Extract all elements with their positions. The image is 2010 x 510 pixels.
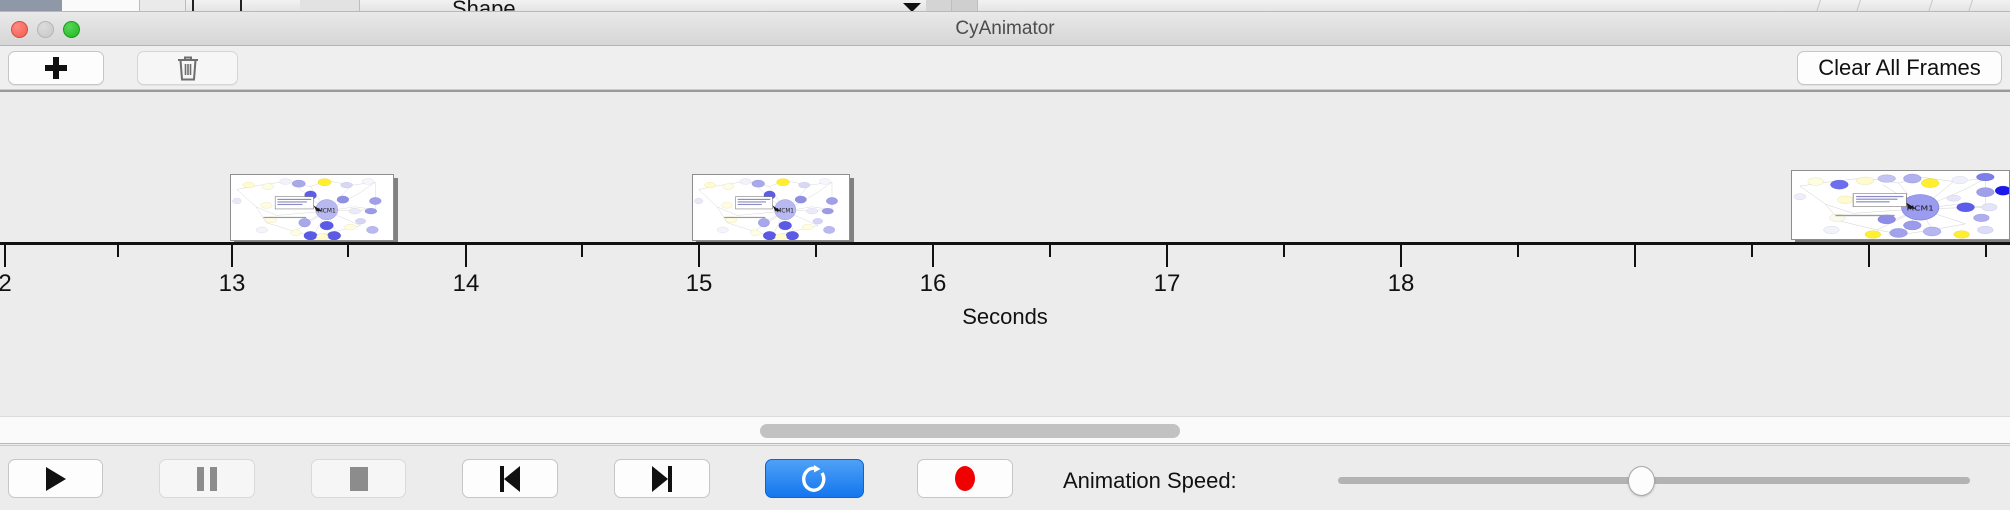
timeline-frame[interactable]: MCM1 [692,174,850,241]
axis-title: Seconds [0,304,2010,330]
window-title: CyAnimator [0,12,2010,46]
axis-tick [1868,245,1870,267]
bg-tick [192,0,194,12]
stop-icon [350,467,368,491]
skip-back-icon [500,466,520,492]
axis-tick [1283,245,1285,257]
axis-tick-label: 15 [686,270,713,298]
frames-area[interactable]: MCM1 [0,92,2010,242]
axis-tick [231,245,233,267]
axis-tick [815,245,817,257]
bg-slant [1928,0,1933,12]
add-frame-button[interactable] [8,51,104,85]
bg-chip [300,0,360,12]
svg-text:MCM1: MCM1 [1907,204,1934,212]
play-button[interactable] [8,459,103,498]
timeline-frame[interactable]: MCM1 [1791,170,2010,240]
playback-control-bar: Animation Speed: [0,445,2010,510]
axis-tick [932,245,934,267]
previous-frame-button[interactable] [462,459,558,498]
network-thumbnail-icon: MCM1 [693,175,849,240]
frame-toolbar: Clear All Frames [0,46,2010,90]
axis-tick [1166,245,1168,267]
bg-slant [1968,0,1973,12]
animation-speed-slider-thumb[interactable] [1628,466,1655,496]
axis-tick [1751,245,1753,257]
next-frame-button[interactable] [614,459,710,498]
bg-slant [1856,0,1861,12]
axis-tick [4,245,6,267]
delete-frame-button[interactable] [137,51,238,85]
bg-tick [240,0,242,12]
minimize-button[interactable] [37,21,54,38]
timeline-panel[interactable]: MCM1 [0,90,2010,416]
axis-line [0,242,2010,245]
bg-dark-chip [0,0,62,12]
trash-icon [176,55,200,82]
axis-tick [1634,245,1636,267]
axis-tick-label: 2 [0,270,12,298]
close-button[interactable] [11,21,28,38]
axis-tick-label: 16 [920,270,947,298]
axis-tick-label: 18 [1388,270,1415,298]
bg-chip [62,0,140,12]
zoom-button[interactable] [63,21,80,38]
axis-tick [465,245,467,267]
network-thumbnail-icon: MCM1 [1792,171,2009,239]
axis-tick [698,245,700,267]
axis-tick [347,245,349,257]
bg-chip [926,0,952,12]
axis-tick [1985,245,1987,257]
record-button[interactable] [917,459,1013,498]
scrollbar-thumb[interactable] [760,424,1180,438]
loop-button[interactable] [765,459,864,498]
window-titlebar: CyAnimator [0,12,2010,46]
timeline-horizontal-scrollbar[interactable] [0,416,2010,444]
pause-button[interactable] [159,459,255,498]
skip-forward-icon [652,466,672,492]
bg-slant [1816,0,1821,12]
plus-icon [45,57,67,79]
network-thumbnail-icon: MCM1 [231,175,393,240]
bg-chip [140,0,186,12]
play-icon [46,467,66,491]
stop-button[interactable] [311,459,406,498]
axis-tick [1400,245,1402,267]
background-window-strip: Shape [0,0,2010,12]
axis-tick [1049,245,1051,257]
svg-text:MCM1: MCM1 [318,209,336,215]
svg-text:MCM1: MCM1 [777,209,795,215]
axis-tick-label: 14 [453,270,480,298]
timeline-frame[interactable]: MCM1 [230,174,394,241]
axis-tick [1517,245,1519,257]
background-window-label: Shape [452,0,516,12]
clear-all-frames-button[interactable]: Clear All Frames [1797,51,2002,85]
axis-tick-label: 13 [219,270,246,298]
pause-icon [197,467,217,491]
record-icon [955,466,975,491]
axis-tick [581,245,583,257]
bg-chip [952,0,978,12]
traffic-light-group [11,21,80,38]
loop-icon [801,464,829,494]
animation-speed-label: Animation Speed: [1063,468,1237,494]
bg-pointer-icon [903,3,921,12]
axis-tick-label: 17 [1154,270,1181,298]
axis-tick [117,245,119,257]
timeline-axis: 2131415161718 Seconds [0,242,2010,352]
